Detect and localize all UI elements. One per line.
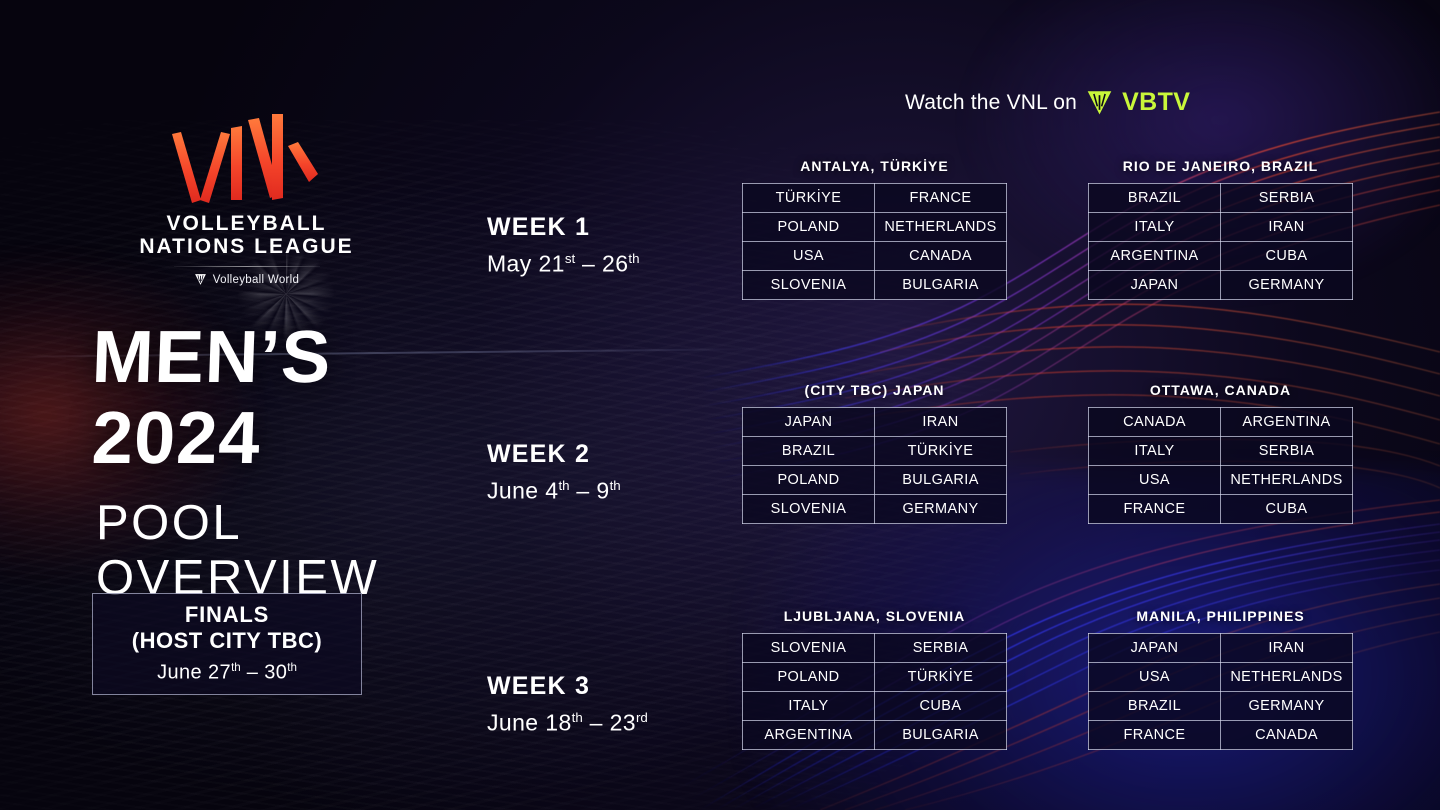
week-3-label: WEEK 3 June 18th – 23rd [487, 672, 648, 738]
week-3-ord-to: rd [636, 710, 648, 725]
vnl-wordmark-line2: NATIONS LEAGUE [134, 235, 359, 258]
table-row: JAPANGERMANY [1089, 271, 1353, 300]
pool-table-antalya: TÜRKİYEFRANCE POLANDNETHERLANDS USACANAD… [742, 183, 1007, 300]
vbtv-shield-icon [1086, 90, 1113, 115]
team-cell: NETHERLANDS [875, 213, 1007, 242]
team-cell: ITALY [1089, 213, 1221, 242]
team-cell: BULGARIA [875, 466, 1007, 495]
pool-table-manila: JAPANIRAN USANETHERLANDS BRAZILGERMANY F… [1088, 633, 1353, 750]
team-cell: TÜRKİYE [875, 663, 1007, 692]
broadcast-text: Watch the VNL on [905, 91, 1077, 115]
finals-dates: June 27th – 30th [157, 655, 297, 686]
team-cell: BULGARIA [875, 271, 1007, 300]
week-2-ord-to: th [610, 478, 621, 493]
pool-table-ottawa: CANADAARGENTINA ITALYSERBIA USANETHERLAN… [1088, 407, 1353, 524]
team-cell: JAPAN [1089, 271, 1221, 300]
pool-city-ottawa: OTTAWA, CANADA [1088, 382, 1353, 398]
table-row: JAPANIRAN [743, 408, 1007, 437]
team-cell: CUBA [875, 692, 1007, 721]
broadcast-lockup: Watch the VNL on VBTV [905, 88, 1190, 117]
team-cell: FRANCE [1089, 495, 1221, 524]
team-cell: ARGENTINA [743, 721, 875, 750]
team-cell: NETHERLANDS [1221, 466, 1353, 495]
finals-ord-from: th [231, 661, 241, 674]
team-cell: CANADA [1089, 408, 1221, 437]
week-2-ord-from: th [558, 478, 569, 493]
table-row: POLANDTÜRKİYE [743, 663, 1007, 692]
team-cell: NETHERLANDS [1221, 663, 1353, 692]
week-2-label: WEEK 2 June 4th – 9th [487, 440, 621, 506]
team-cell: BRAZIL [1089, 184, 1221, 213]
team-cell: JAPAN [1089, 634, 1221, 663]
team-cell: SLOVENIA [743, 271, 875, 300]
table-row: BRAZILGERMANY [1089, 692, 1353, 721]
pool-ottawa: OTTAWA, CANADA CANADAARGENTINA ITALYSERB… [1088, 382, 1353, 524]
week-1-dates: May 21st – 26th [487, 244, 640, 279]
table-row: FRANCECUBA [1089, 495, 1353, 524]
finals-box: FINALS (HOST CITY TBC) June 27th – 30th [92, 593, 362, 695]
table-row: POLANDBULGARIA [743, 466, 1007, 495]
table-row: ARGENTINACUBA [1089, 242, 1353, 271]
table-row: FRANCECANADA [1089, 721, 1353, 750]
table-row: BRAZILTÜRKİYE [743, 437, 1007, 466]
team-cell: FRANCE [875, 184, 1007, 213]
title-line-mens: MEN’S [91, 320, 444, 394]
team-cell: USA [1089, 466, 1221, 495]
table-row: USANETHERLANDS [1089, 663, 1353, 692]
table-row: ITALYSERBIA [1089, 437, 1353, 466]
table-row: SLOVENIABULGARIA [743, 271, 1007, 300]
team-cell: TÜRKİYE [743, 184, 875, 213]
week-3-dates: June 18th – 23rd [487, 703, 648, 738]
finals-host-city: (HOST CITY TBC) [132, 627, 322, 654]
table-row: ITALYIRAN [1089, 213, 1353, 242]
table-row: SLOVENIAGERMANY [743, 495, 1007, 524]
left-column: VOLLEYBALL NATIONS LEAGUE Volleyball Wor… [92, 108, 442, 606]
week-3-name: WEEK 3 [487, 672, 648, 701]
week-1-day-from: 21 [538, 251, 564, 277]
week-1-dash: – [582, 251, 595, 277]
team-cell: CANADA [875, 242, 1007, 271]
team-cell: ARGENTINA [1221, 408, 1353, 437]
pool-japan: (CITY TBC) JAPAN JAPANIRAN BRAZILTÜRKİYE… [742, 382, 1007, 524]
week-3-day-to: 23 [610, 710, 636, 736]
week-2-month: June [487, 478, 538, 504]
table-row: ARGENTINABULGARIA [743, 721, 1007, 750]
vbtv-brand-text: VBTV [1122, 88, 1190, 117]
team-cell: USA [743, 242, 875, 271]
table-row: USANETHERLANDS [1089, 466, 1353, 495]
team-cell: ITALY [743, 692, 875, 721]
week-3-day-from: 18 [545, 710, 571, 736]
week-3-ord-from: th [572, 710, 583, 725]
table-row: ITALYCUBA [743, 692, 1007, 721]
finals-day-to: 30 [264, 662, 287, 684]
pool-city-manila: MANILA, PHILIPPINES [1088, 608, 1353, 624]
team-cell: IRAN [875, 408, 1007, 437]
week-1-ord-to: th [628, 251, 639, 266]
table-row: SLOVENIASERBIA [743, 634, 1007, 663]
team-cell: ITALY [1089, 437, 1221, 466]
week-1-name: WEEK 1 [487, 213, 640, 242]
team-cell: USA [1089, 663, 1221, 692]
week-3-dash: – [590, 710, 603, 736]
pool-table-ljubljana: SLOVENIASERBIA POLANDTÜRKİYE ITALYCUBA A… [742, 633, 1007, 750]
pool-ljubljana: LJUBLJANA, SLOVENIA SLOVENIASERBIA POLAN… [742, 608, 1007, 750]
week-2-name: WEEK 2 [487, 440, 621, 469]
week-2-day-from: 4 [545, 478, 558, 504]
vnl-logo: VOLLEYBALL NATIONS LEAGUE Volleyball Wor… [134, 108, 359, 286]
team-cell: FRANCE [1089, 721, 1221, 750]
pool-city-antalya: ANTALYA, TÜRKİYE [742, 158, 1007, 174]
team-cell: SLOVENIA [743, 634, 875, 663]
week-1-label: WEEK 1 May 21st – 26th [487, 213, 640, 279]
table-row: CANADAARGENTINA [1089, 408, 1353, 437]
week-2-dates: June 4th – 9th [487, 471, 621, 506]
week-3-month: June [487, 710, 538, 736]
week-1-day-to: 26 [602, 251, 628, 277]
table-row: USACANADA [743, 242, 1007, 271]
team-cell: BRAZIL [743, 437, 875, 466]
team-cell: SLOVENIA [743, 495, 875, 524]
team-cell: BRAZIL [1089, 692, 1221, 721]
pool-rio: RIO DE JANEIRO, BRAZIL BRAZILSERBIA ITAL… [1088, 158, 1353, 300]
pool-manila: MANILA, PHILIPPINES JAPANIRAN USANETHERL… [1088, 608, 1353, 750]
table-row: JAPANIRAN [1089, 634, 1353, 663]
week-1-ord-from: st [565, 251, 575, 266]
table-row: POLANDNETHERLANDS [743, 213, 1007, 242]
table-row: TÜRKİYEFRANCE [743, 184, 1007, 213]
team-cell: SERBIA [1221, 184, 1353, 213]
week-2-dash: – [576, 478, 589, 504]
pool-table-japan: JAPANIRAN BRAZILTÜRKİYE POLANDBULGARIA S… [742, 407, 1007, 524]
table-row: BRAZILSERBIA [1089, 184, 1353, 213]
team-cell: JAPAN [743, 408, 875, 437]
finals-day-from: 27 [208, 662, 231, 684]
page-title: MEN’S 2024 POOL OVERVIEW [92, 320, 442, 606]
finals-month: June [157, 662, 202, 684]
pool-city-rio: RIO DE JANEIRO, BRAZIL [1088, 158, 1353, 174]
volleyball-world-text: Volleyball World [213, 274, 299, 286]
finals-heading: FINALS [185, 602, 269, 627]
team-cell: SERBIA [875, 634, 1007, 663]
team-cell: IRAN [1221, 634, 1353, 663]
team-cell: IRAN [1221, 213, 1353, 242]
team-cell: CUBA [1221, 495, 1353, 524]
week-1-month: May [487, 251, 532, 277]
volleyball-world-shield-icon [194, 273, 207, 286]
team-cell: GERMANY [875, 495, 1007, 524]
team-cell: BULGARIA [875, 721, 1007, 750]
week-2-day-to: 9 [596, 478, 609, 504]
poster-canvas: VOLLEYBALL NATIONS LEAGUE Volleyball Wor… [0, 0, 1440, 810]
pool-antalya: ANTALYA, TÜRKİYE TÜRKİYEFRANCE POLANDNET… [742, 158, 1007, 300]
finals-ord-to: th [287, 661, 297, 674]
team-cell: GERMANY [1221, 271, 1353, 300]
volleyball-world-lockup: Volleyball World [134, 273, 359, 286]
logo-divider [174, 266, 320, 267]
team-cell: SERBIA [1221, 437, 1353, 466]
pool-table-rio: BRAZILSERBIA ITALYIRAN ARGENTINACUBA JAP… [1088, 183, 1353, 300]
team-cell: CUBA [1221, 242, 1353, 271]
vnl-wordmark-line1: VOLLEYBALL [134, 212, 359, 235]
finals-dash: – [247, 662, 259, 684]
pool-city-ljubljana: LJUBLJANA, SLOVENIA [742, 608, 1007, 624]
vnl-logo-mark-icon [168, 108, 326, 206]
team-cell: POLAND [743, 466, 875, 495]
team-cell: TÜRKİYE [875, 437, 1007, 466]
team-cell: CANADA [1221, 721, 1353, 750]
team-cell: POLAND [743, 663, 875, 692]
pool-city-japan: (CITY TBC) JAPAN [742, 382, 1007, 398]
team-cell: POLAND [743, 213, 875, 242]
team-cell: ARGENTINA [1089, 242, 1221, 271]
title-line-year: 2024 [91, 398, 444, 478]
title-line-pool: POOL [96, 496, 442, 551]
team-cell: GERMANY [1221, 692, 1353, 721]
